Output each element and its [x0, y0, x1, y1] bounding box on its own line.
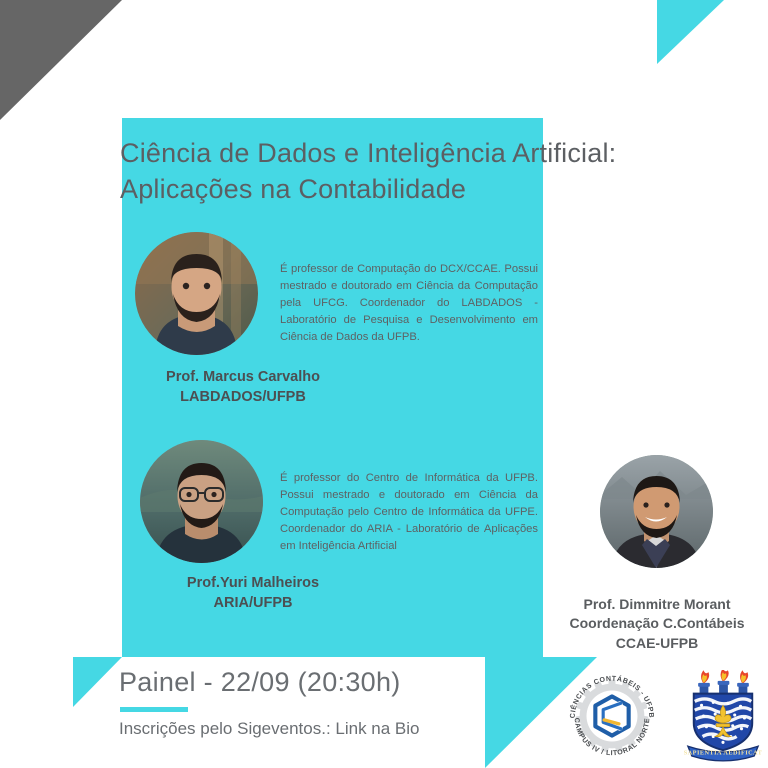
decorative-triangle-top-right	[657, 0, 724, 64]
speaker-photo-marcus-carvalho	[135, 232, 258, 355]
poster-title-line-2: Aplicações na Contabilidade	[120, 172, 710, 208]
speaker-name-yuri-malheiros: Prof.Yuri Malheiros	[118, 573, 388, 593]
poster-title-line-1: Ciência de Dados e Inteligência Artifici…	[120, 136, 710, 172]
speaker-affiliation-marcus-carvalho: LABDADOS/UFPB	[108, 387, 378, 407]
speaker-bio-yuri-malheiros: É professor do Centro de Informática da …	[280, 470, 538, 555]
speaker-affiliation-yuri-malheiros: ARIA/UFPB	[118, 593, 388, 613]
signup-instructions: Inscrições pelo Sigeventos.: Link na Bio	[119, 719, 420, 739]
speaker-name-dimmitre-morant: Prof. Dimmitre Morant	[548, 595, 766, 614]
speaker-name-block-marcus-carvalho: Prof. Marcus Carvalho LABDADOS/UFPB	[108, 367, 378, 407]
decorative-triangle-bottom-left	[73, 657, 122, 707]
speaker-name-block-yuri-malheiros: Prof.Yuri Malheiros ARIA/UFPB	[118, 573, 388, 613]
poster-title: Ciência de Dados e Inteligência Artifici…	[120, 136, 710, 207]
speaker-photo-yuri-malheiros	[140, 440, 263, 563]
date-underline-rule	[120, 707, 188, 712]
logo-ufpb-brasao: SAPIENTIA AEDIFICAT	[684, 670, 762, 764]
speaker-role-dimmitre-morant: Coordenação C.Contábeis	[548, 614, 766, 633]
decorative-triangle-top-left	[0, 0, 122, 120]
speaker-bio-marcus-carvalho: É professor de Computação do DCX/CCAE. P…	[280, 261, 538, 346]
speaker-name-block-dimmitre-morant: Prof. Dimmitre Morant Coordenação C.Cont…	[548, 595, 766, 653]
speaker-photo-dimmitre-morant	[600, 455, 713, 568]
speaker-affiliation-dimmitre-morant: CCAE-UFPB	[548, 634, 766, 653]
logo-ufpb-motto: SAPIENTIA AEDIFICAT	[684, 750, 762, 757]
speaker-name-marcus-carvalho: Prof. Marcus Carvalho	[108, 367, 378, 387]
poster-canvas: Ciência de Dados e Inteligência Artifici…	[0, 0, 768, 768]
logo-ciencias-contabeis: CIÊNCIAS CONTÁBEIS - UFPB CAMPUS IV / LI…	[563, 667, 661, 765]
event-date-time: Painel - 22/09 (20:30h)	[119, 667, 401, 698]
